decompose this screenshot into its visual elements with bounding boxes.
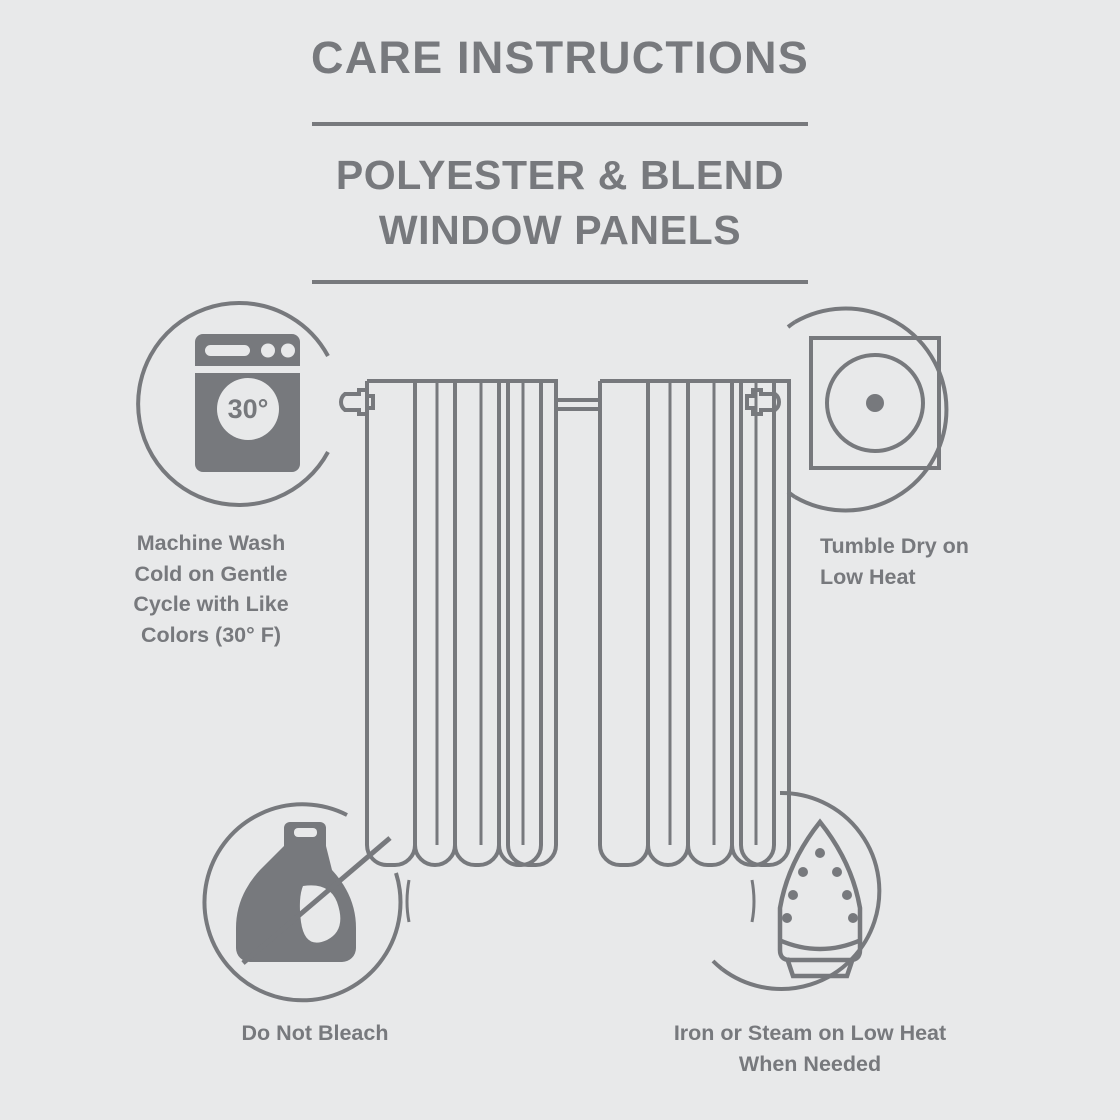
- care-instructions-infographic: CARE INSTRUCTIONS POLYESTER & BLEND WIND…: [0, 0, 1120, 1120]
- caption-line: Iron or Steam on Low Heat: [600, 1018, 1020, 1049]
- iron-steam-holes: [782, 848, 858, 923]
- iron-caption: Iron or Steam on Low Heat When Needed: [600, 1018, 1020, 1079]
- caption-line: Cold on Gentle: [80, 559, 342, 590]
- caption-line: Machine Wash: [80, 528, 342, 559]
- caption-line: Cycle with Like: [80, 589, 342, 620]
- caption-line: Do Not Bleach: [170, 1018, 460, 1049]
- tumble-dry-caption: Tumble Dry on Low Heat: [820, 531, 1080, 592]
- caption-line: Colors (30° F): [80, 620, 342, 651]
- caption-line: Low Heat: [820, 562, 1080, 593]
- machine-wash-caption: Machine Wash Cold on Gentle Cycle with L…: [80, 528, 342, 650]
- caption-line: When Needed: [600, 1049, 1020, 1080]
- caption-line: Tumble Dry on: [820, 531, 1080, 562]
- do-not-bleach-caption: Do Not Bleach: [170, 1018, 460, 1049]
